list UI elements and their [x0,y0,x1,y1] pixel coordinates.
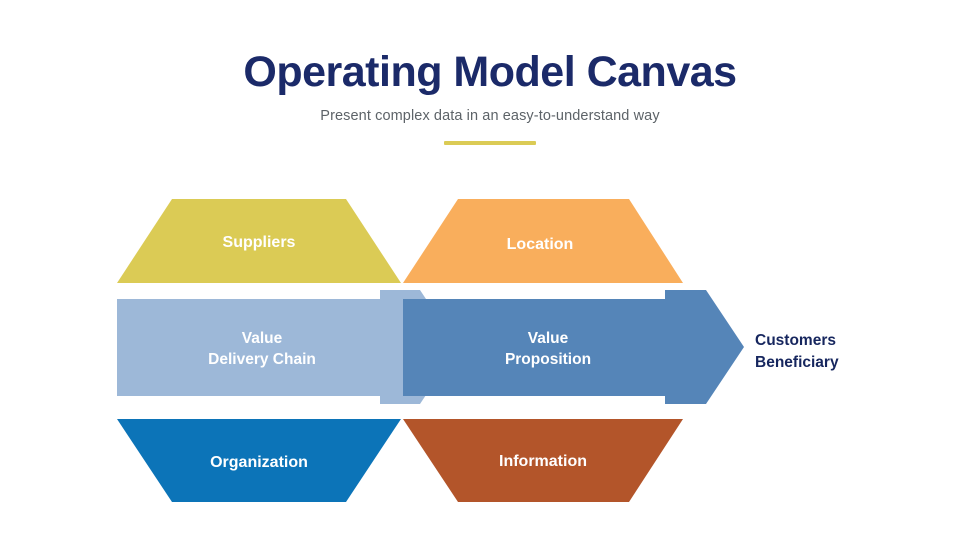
diagram-svg [0,0,980,551]
slide-canvas: Operating Model Canvas Present complex d… [0,0,980,551]
operating-model-diagram: Suppliers Location Value Delivery Chain … [0,0,980,551]
shape-location[interactable] [403,199,683,283]
shape-value-proposition[interactable] [403,290,744,404]
customers-beneficiary-label: Customers Beneficiary [755,330,839,375]
shape-organization[interactable] [117,419,401,502]
shape-suppliers[interactable] [117,199,401,283]
shape-information[interactable] [403,419,683,502]
